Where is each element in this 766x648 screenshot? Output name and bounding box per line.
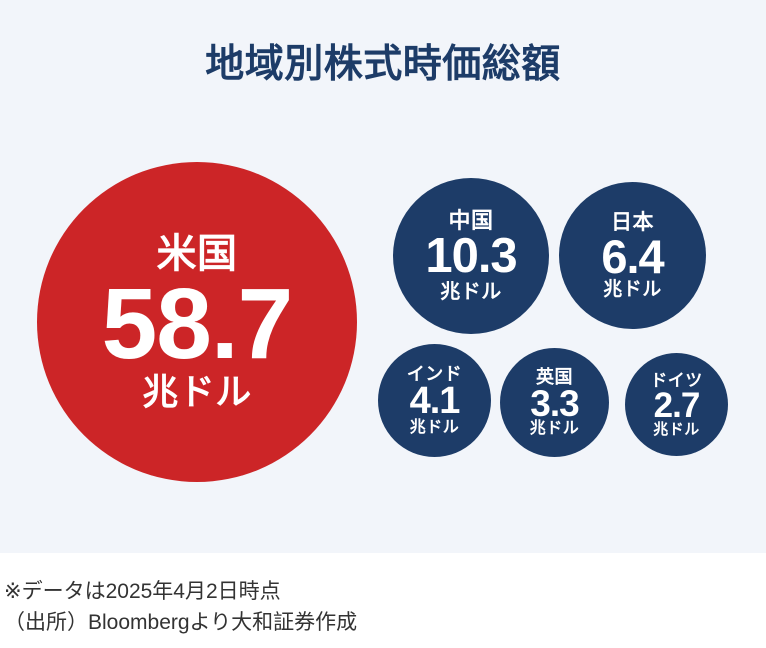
bubble-us: 米国 58.7 兆ドル xyxy=(37,162,357,482)
bubble-japan: 日本 6.4 兆ドル xyxy=(559,182,706,329)
bubble-china: 中国 10.3 兆ドル xyxy=(393,178,549,334)
bubble-china-unit: 兆ドル xyxy=(440,282,502,302)
bubble-china-value: 10.3 xyxy=(425,233,516,280)
bubble-japan-unit: 兆ドル xyxy=(603,280,662,299)
bubble-japan-value: 6.4 xyxy=(601,234,663,279)
bubble-us-value: 58.7 xyxy=(102,276,293,372)
bubble-india-value: 4.1 xyxy=(410,383,460,419)
infographic-root: 地域別株式時価総額 米国 58.7 兆ドル 中国 10.3 兆ドル 日本 6.4… xyxy=(0,0,766,648)
footnote-source: （出所）Bloombergより大和証券作成 xyxy=(4,607,764,638)
bubble-germany: ドイツ 2.7 兆ドル xyxy=(625,353,728,456)
page-title: 地域別株式時価総額 xyxy=(0,40,766,90)
bubble-india-unit: 兆ドル xyxy=(410,420,460,436)
bubble-us-unit: 兆ドル xyxy=(142,374,252,410)
bubble-uk: 英国 3.3 兆ドル xyxy=(500,348,609,457)
bubble-uk-unit: 兆ドル xyxy=(530,421,580,437)
bubble-germany-unit: 兆ドル xyxy=(653,422,700,437)
bubble-uk-value: 3.3 xyxy=(530,386,578,422)
footnotes: ※データは2025年4月2日時点 （出所）Bloombergより大和証券作成 xyxy=(4,576,764,638)
footnote-data-date: ※データは2025年4月2日時点 xyxy=(4,576,764,607)
bubble-india: インド 4.1 兆ドル xyxy=(378,344,491,457)
bubble-germany-value: 2.7 xyxy=(654,389,700,423)
